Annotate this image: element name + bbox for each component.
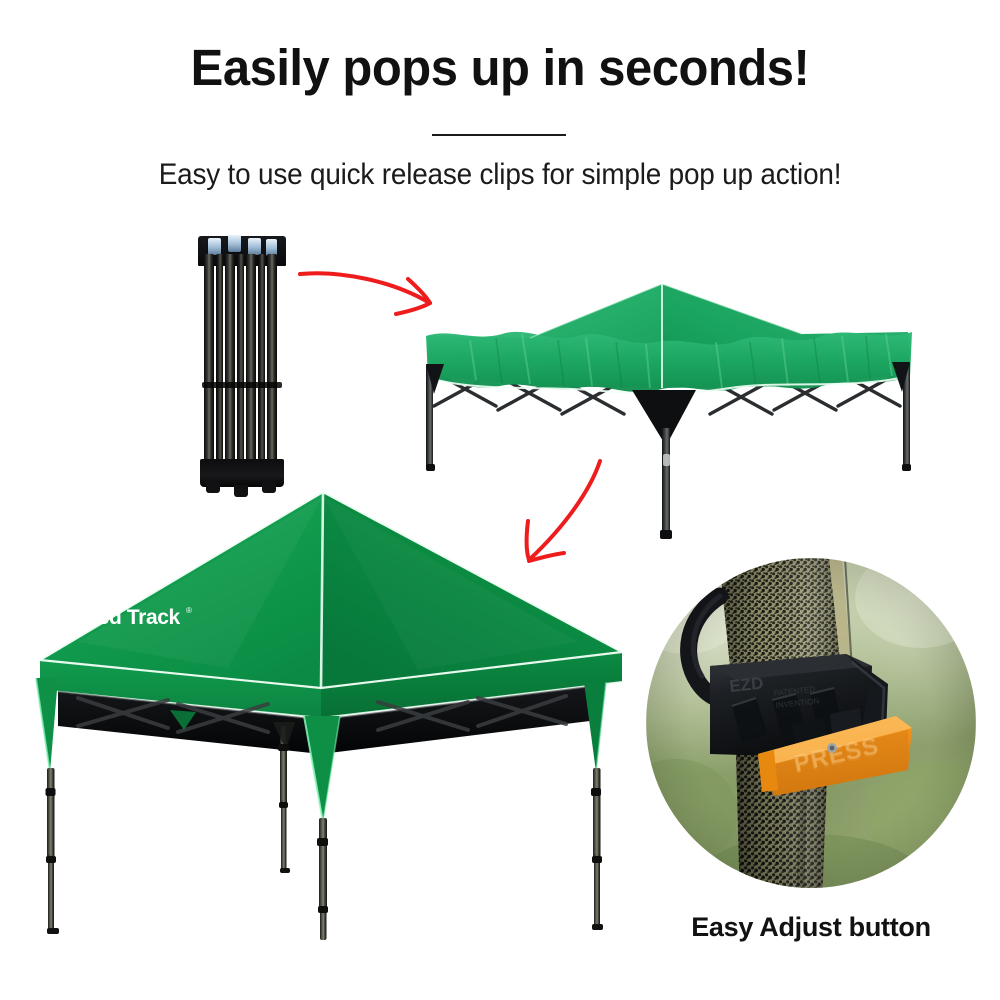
folded-frame-pole: [267, 254, 277, 465]
brand-logo-text: Red Track: [83, 606, 181, 629]
easy-adjust-button-photo: EZD PATENTED INVENTION PRESS PRESS: [646, 558, 976, 888]
page-subtitle: Easy to use quick release clips for simp…: [35, 158, 965, 192]
folded-frame-hinge-band: [202, 382, 282, 388]
folded-frame-pole: [204, 254, 214, 465]
folded-frame-pole: [258, 254, 265, 465]
easy-adjust-clip-illustration: EZD PATENTED INVENTION PRESS PRESS: [646, 558, 976, 888]
gazebo-leg: [46, 768, 60, 934]
title-divider: [432, 134, 566, 136]
folded-frame-tab: [208, 238, 221, 255]
folded-frame-tab: [228, 235, 241, 252]
folded-frame-tab: [248, 238, 261, 255]
fully-opened-gazebo: Red Track ®: [18, 482, 643, 942]
page-title: Easily pops up in seconds!: [20, 38, 980, 97]
folded-gazebo-frame: [196, 232, 288, 487]
infographic-page: Easily pops up in seconds! Easy to use q…: [0, 0, 1000, 1000]
folded-frame-pole: [216, 254, 223, 465]
folded-frame-pole: [225, 254, 235, 465]
folded-frame-pole: [237, 254, 244, 465]
folded-frame-pole: [246, 254, 256, 465]
photo-caption: Easy Adjust button: [646, 912, 976, 943]
brand-logo-trademark: ®: [186, 606, 192, 615]
sunburst-icon: [55, 600, 79, 621]
gazebo-leg: [591, 768, 603, 930]
gazebo-leg: [317, 818, 328, 940]
